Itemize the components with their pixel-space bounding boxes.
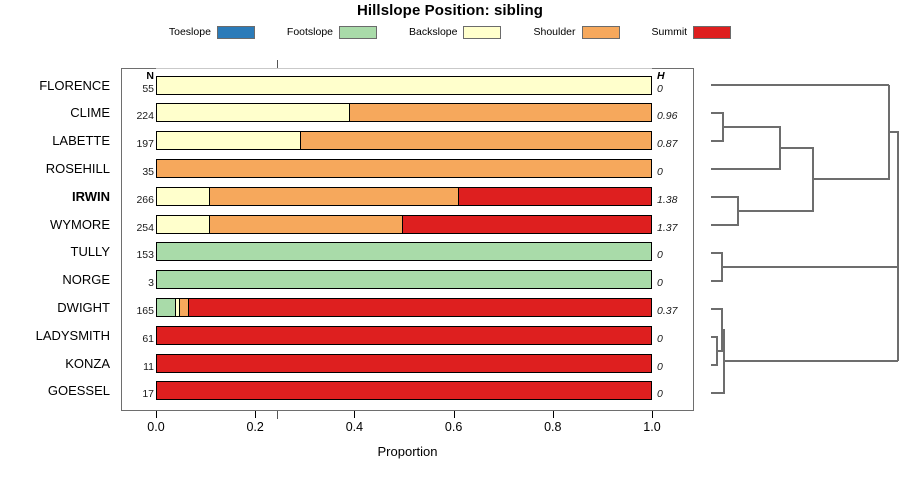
- stacked-bar: [156, 76, 652, 95]
- row-label-labette: LABETTE: [52, 127, 110, 155]
- bar-segment-backslope: [157, 132, 301, 149]
- legend-label: Footslope: [287, 26, 333, 38]
- row-h-value: 0: [657, 238, 693, 266]
- stacked-bar: [156, 242, 652, 261]
- row-n-value: 165: [123, 294, 154, 322]
- row-h-value: 0: [657, 350, 693, 378]
- bar-segment-summit: [157, 327, 651, 344]
- row-h-value: 0: [657, 377, 693, 405]
- stacked-bar: [156, 103, 652, 122]
- bar-segment-footslope: [157, 299, 176, 316]
- legend-item-shoulder: Shoulder: [533, 26, 619, 39]
- row-h-value: 0: [657, 266, 693, 294]
- chart-root: Hillslope Position: sibling ToeslopeFoot…: [0, 0, 900, 480]
- x-tick: [652, 411, 653, 418]
- bar-segment-shoulder: [210, 216, 403, 233]
- bar-segment-shoulder: [180, 299, 190, 316]
- x-tick-label: 0.0: [133, 420, 179, 434]
- legend-swatch-backslope: [463, 26, 501, 39]
- bar-segment-backslope: [157, 188, 210, 205]
- bar-segment-backslope: [157, 216, 210, 233]
- x-tick-label: 1.0: [629, 420, 675, 434]
- row-n-value: 254: [123, 211, 154, 239]
- legend: ToeslopeFootslopeBackslopeShoulderSummit: [0, 24, 900, 40]
- x-tick-label: 0.4: [331, 420, 377, 434]
- stacked-bar: [156, 354, 652, 373]
- row-n-value: 61: [123, 322, 154, 350]
- row-h-value: 0.87: [657, 127, 693, 155]
- row-n-value: 266: [123, 183, 154, 211]
- bar-segment-backslope: [157, 77, 651, 94]
- row-label-wymore: WYMORE: [50, 211, 110, 239]
- row-n-value: 11: [123, 350, 154, 378]
- x-tick-label: 0.8: [530, 420, 576, 434]
- dendrogram-svg: [694, 60, 900, 420]
- x-tick: [454, 411, 455, 418]
- panel-top-gridline: [156, 68, 652, 69]
- row-h-value: 0: [657, 155, 693, 183]
- legend-item-backslope: Backslope: [409, 26, 501, 39]
- legend-label: Backslope: [409, 26, 457, 38]
- legend-item-summit: Summit: [652, 26, 732, 39]
- row-label-florence: FLORENCE: [39, 72, 110, 100]
- panel-bottom-tick: [277, 411, 278, 419]
- x-tick-label: 0.2: [232, 420, 278, 434]
- stacked-bar: [156, 215, 652, 234]
- bar-segment-shoulder: [350, 104, 651, 121]
- bar-segment-summit: [157, 355, 651, 372]
- legend-label: Toeslope: [169, 26, 211, 38]
- legend-swatch-shoulder: [582, 26, 620, 39]
- row-n-value: 17: [123, 377, 154, 405]
- bar-segment-footslope: [157, 271, 651, 288]
- stacked-bar: [156, 381, 652, 400]
- row-n-value: 35: [123, 155, 154, 183]
- stacked-bar: [156, 270, 652, 289]
- legend-swatch-summit: [693, 26, 731, 39]
- row-h-value: 1.37: [657, 211, 693, 239]
- x-tick: [156, 411, 157, 418]
- legend-item-footslope: Footslope: [287, 26, 377, 39]
- row-label-konza: KONZA: [65, 350, 110, 378]
- row-label-irwin: IRWIN: [72, 183, 110, 211]
- stacked-bar: [156, 187, 652, 206]
- dendrogram: [694, 60, 900, 420]
- row-label-ladysmith: LADYSMITH: [36, 322, 110, 350]
- row-label-dwight: DWIGHT: [57, 294, 110, 322]
- legend-label: Shoulder: [533, 26, 575, 38]
- legend-swatch-toeslope: [217, 26, 255, 39]
- bar-segment-summit: [459, 188, 651, 205]
- x-tick: [553, 411, 554, 418]
- bar-segment-shoulder: [210, 188, 459, 205]
- bar-segment-shoulder: [157, 160, 651, 177]
- row-label-tully: TULLY: [71, 238, 111, 266]
- row-label-clime: CLIME: [70, 99, 110, 127]
- bar-segment-summit: [157, 382, 651, 399]
- stacked-bar: [156, 298, 652, 317]
- row-h-value: 1.38: [657, 183, 693, 211]
- bar-segment-shoulder: [301, 132, 651, 149]
- row-n-value: 224: [123, 99, 154, 127]
- panel-top-tick: [277, 60, 278, 68]
- stacked-bar: [156, 326, 652, 345]
- x-tick: [255, 411, 256, 418]
- row-n-value: 55: [123, 72, 154, 100]
- row-h-value: 0.96: [657, 99, 693, 127]
- page-title: Hillslope Position: sibling: [0, 2, 900, 19]
- x-axis-title: Proportion: [121, 444, 694, 459]
- row-n-value: 3: [123, 266, 154, 294]
- legend-swatch-footslope: [339, 26, 377, 39]
- bar-segment-summit: [189, 299, 651, 316]
- row-h-value: 0.37: [657, 294, 693, 322]
- row-label-goessel: GOESSEL: [48, 377, 110, 405]
- bar-segment-footslope: [157, 243, 651, 260]
- row-label-norge: NORGE: [62, 266, 110, 294]
- row-h-value: 0: [657, 72, 693, 100]
- bar-segment-backslope: [157, 104, 350, 121]
- row-label-rosehill: ROSEHILL: [46, 155, 110, 183]
- stacked-bar: [156, 131, 652, 150]
- x-tick-label: 0.6: [431, 420, 477, 434]
- bar-segment-summit: [403, 216, 651, 233]
- row-n-value: 153: [123, 238, 154, 266]
- x-tick: [354, 411, 355, 418]
- legend-label: Summit: [652, 26, 688, 38]
- stacked-bar: [156, 159, 652, 178]
- row-h-value: 0: [657, 322, 693, 350]
- legend-item-toeslope: Toeslope: [169, 26, 255, 39]
- row-n-value: 197: [123, 127, 154, 155]
